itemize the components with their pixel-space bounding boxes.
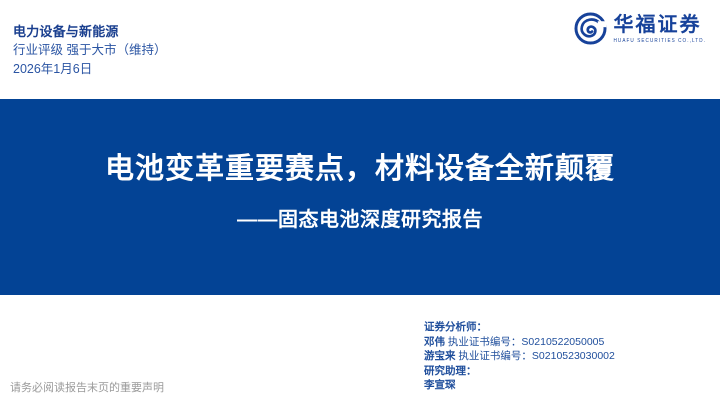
analyst-name: 游宝来 xyxy=(424,350,456,362)
analyst-block: 证券分析师： 邓伟 执业证书编号：S0210522050005 游宝来 执业证书… xyxy=(424,320,615,393)
logo-text: 华福证券 HUAFU SECURITIES CO.,LTD. xyxy=(614,15,707,43)
disclaimer-text: 请务必阅读报告末页的重要声明 xyxy=(10,379,164,395)
huafu-spiral-logo-icon xyxy=(574,12,607,45)
analyst-license: 执业证书编号：S0210522050005 xyxy=(448,336,604,348)
report-date: 2026年1月6日 xyxy=(13,60,166,79)
page-footer: 证券分析师： 邓伟 执业证书编号：S0210522050005 游宝来 执业证书… xyxy=(0,295,720,405)
research-assistant-name: 李宣琛 xyxy=(424,378,615,393)
company-logo: 华福证券 HUAFU SECURITIES CO.,LTD. xyxy=(574,12,707,45)
industry-name: 电力设备与新能源 xyxy=(13,22,166,41)
logo-company-name-en: HUAFU SECURITIES CO.,LTD. xyxy=(614,36,707,44)
page-header: 电力设备与新能源 行业评级 强于大市（维持） 2026年1月6日 华福证券 HU… xyxy=(0,0,720,99)
analyst-heading: 证券分析师： xyxy=(424,320,615,335)
analyst-license: 执业证书编号：S0210523030002 xyxy=(458,350,614,362)
title-banner: 电池变革重要赛点，材料设备全新颠覆 ——固态电池深度研究报告 xyxy=(0,99,720,295)
logo-company-name-cn: 华福证券 xyxy=(614,15,702,36)
analyst-row: 游宝来 执业证书编号：S0210523030002 xyxy=(424,349,615,364)
header-meta-block: 电力设备与新能源 行业评级 强于大市（维持） 2026年1月6日 xyxy=(13,22,166,79)
report-subtitle: ——固态电池深度研究报告 xyxy=(0,203,720,232)
report-title: 电池变革重要赛点，材料设备全新颠覆 xyxy=(0,145,720,187)
analyst-name: 邓伟 xyxy=(424,336,445,348)
research-assistant-heading: 研究助理： xyxy=(424,364,615,379)
analyst-row: 邓伟 执业证书编号：S0210522050005 xyxy=(424,335,615,350)
industry-rating: 行业评级 强于大市（维持） xyxy=(13,41,166,60)
